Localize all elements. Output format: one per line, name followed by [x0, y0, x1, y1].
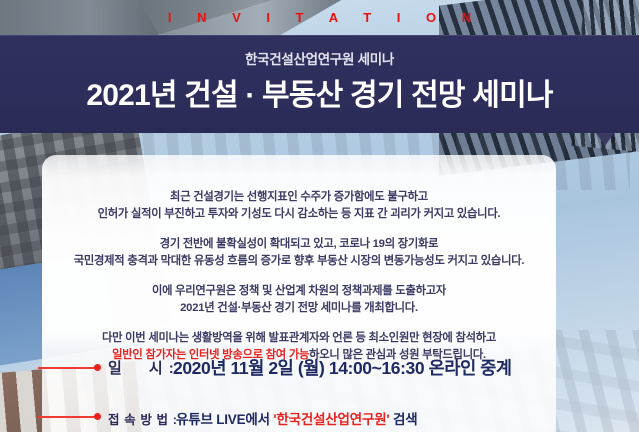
info-label-datetime-first: 일 [108, 360, 123, 377]
banner-subtitle: 한국건설산업연구원 세미나 [0, 48, 639, 68]
body-paragraph-4-line-1: 다만 이번 세미나는 생활방역을 위해 발표관계자와 언론 등 최소인원만 현장… [102, 332, 496, 344]
info-label-datetime: 일시 : [108, 357, 175, 378]
info-value-access-prefix: 유튜브 LIVE에서 [176, 412, 273, 427]
lead-dot-icon [94, 413, 101, 420]
info-value-datetime: 2020년 11월 2일 (월) 14:00~16:30 온라인 중계 [173, 355, 512, 380]
lead-line-icon [38, 416, 95, 418]
info-label-access-method: 접 속 방 법 : [108, 409, 177, 428]
invitation-kicker: I N V I T A T I O N [0, 9, 639, 27]
body-paragraph-1-line-2: 인허가 실적이 부진하고 투자와 기성도 다시 감소하는 등 지표 간 괴리가 … [98, 208, 501, 220]
title-banner: 한국건설산업연구원 세미나 2021년 건설 · 부동산 경기 전망 세미나 [0, 35, 639, 133]
body-paragraph-1-line-1: 최근 건설경기는 선행지표인 수주가 증가함에도 불구하고 [170, 191, 428, 203]
lead-line-icon [38, 367, 95, 369]
body-paragraph-2: 경기 전반에 불확실성이 확대되고 있고, 코로나 19의 장기화로 국민경제적… [42, 236, 556, 269]
body-paragraph-3: 이에 우리연구원은 정책 및 산업계 차원의 정책과제를 도출하고자 2021년… [42, 283, 556, 316]
info-value-access-suffix: 검색 [389, 412, 417, 427]
info-row-datetime: 일시 : 2020년 11월 2일 (월) 14:00~16:30 온라인 중계 [0, 356, 639, 380]
body-paragraph-2-line-1: 경기 전반에 불확실성이 확대되고 있고, 코로나 19의 장기화로 [160, 238, 439, 250]
body-paragraph-3-line-1: 이에 우리연구원은 정책 및 산업계 차원의 정책과제를 도출하고자 [152, 285, 446, 297]
banner-title: 2021년 건설 · 부동산 경기 전망 세미나 [0, 70, 639, 114]
info-label-datetime-second: 시 : [149, 360, 175, 377]
info-value-access-method: 유튜브 LIVE에서 '한국건설산업연구원' 검색 [176, 408, 417, 428]
body-paragraph-2-line-2: 국민경제적 충격과 막대한 유동성 흐름의 증가로 향후 부동산 시장의 변동가… [74, 255, 525, 267]
banner-notch-triangle-icon [596, 133, 614, 146]
body-paragraph-3-line-2: 2021년 건설·부동산 경기 전망 세미나를 개최합니다. [180, 302, 418, 314]
body-paragraph-1: 최근 건설경기는 선행지표인 수주가 증가함에도 불구하고 인허가 실적이 부진… [42, 189, 556, 222]
seminar-invitation-poster: I N V I T A T I O N 한국건설산업연구원 세미나 2021년 … [0, 0, 639, 432]
lead-dot-icon [94, 364, 101, 371]
info-row-access-method: 접 속 방 법 : 유튜브 LIVE에서 '한국건설산업연구원' 검색 [0, 405, 639, 429]
body-copy: 최근 건설경기는 선행지표인 수주가 증가함에도 불구하고 인허가 실적이 부진… [42, 189, 556, 363]
info-value-access-keyword: '한국건설산업연구원' [273, 412, 389, 427]
